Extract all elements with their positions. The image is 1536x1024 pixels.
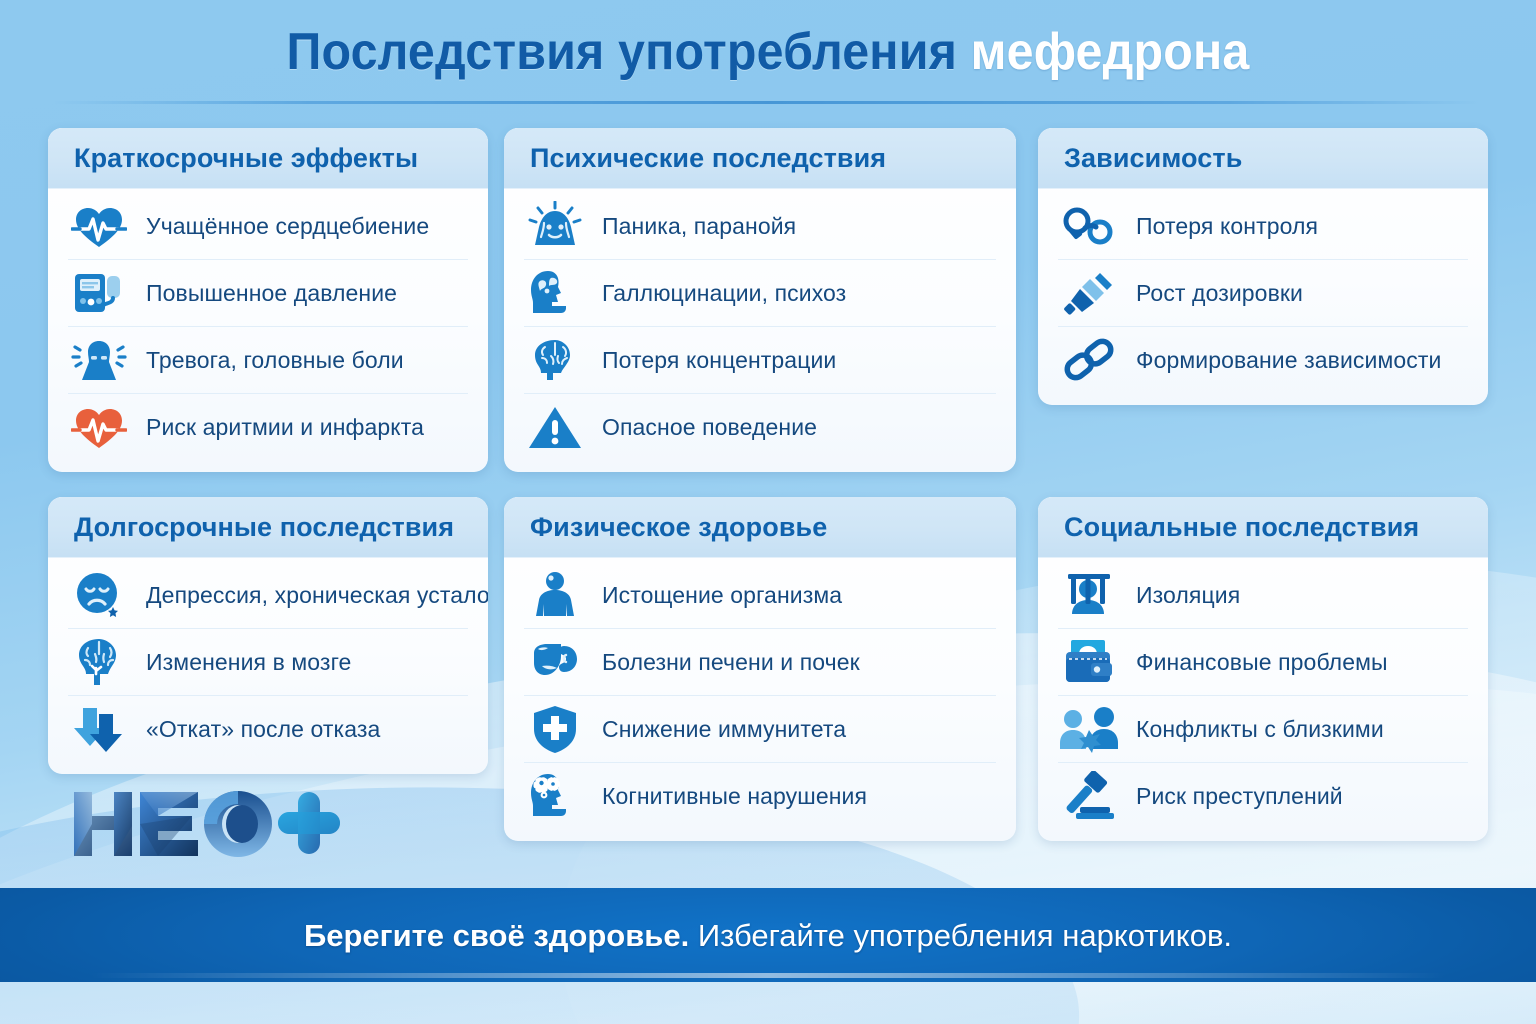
card-body: Изоляция Финансовы <box>1038 558 1488 839</box>
list-item[interactable]: Конфликты с близкими <box>1058 696 1468 763</box>
card-mental-consequences: Психические последствия Паника, паранойя <box>504 128 1016 472</box>
brain-icon <box>524 332 586 388</box>
prison-bars-person-icon <box>1058 567 1120 623</box>
card-heading: Физическое здоровье <box>530 512 827 543</box>
list-item[interactable]: Изменения в мозге <box>68 629 468 696</box>
list-item-label: Финансовые проблемы <box>1136 649 1388 676</box>
list-item[interactable]: Болезни печени и почек <box>524 629 996 696</box>
blood-pressure-monitor-icon <box>68 265 130 321</box>
list-item-label: Риск преступлений <box>1136 783 1343 810</box>
list-item[interactable]: Галлюцинации, психоз <box>524 260 996 327</box>
head-hallucination-icon <box>524 265 586 321</box>
card-dependence: Зависимость Потеря контроля <box>1038 128 1488 405</box>
list-item-label: Опасное поведение <box>602 414 817 441</box>
handcuffs-icon <box>1058 198 1120 254</box>
list-item-label: Паника, паранойя <box>602 213 796 240</box>
list-item[interactable]: Учащённое сердцебиение <box>68 193 468 260</box>
card-heading: Психические последствия <box>530 143 886 174</box>
list-item[interactable]: Финансовые проблемы <box>1058 629 1468 696</box>
head-gears-icon <box>524 768 586 824</box>
list-item[interactable]: Потеря контроля <box>1058 193 1468 260</box>
list-item-label: Повышенное давление <box>146 280 397 307</box>
sad-face-icon <box>68 567 130 623</box>
page-title-primary: Последствия употребления <box>287 23 957 81</box>
list-item-label: «Откат» после отказа <box>146 716 380 743</box>
card-short-term-effects: Краткосрочные эффекты Учащённое сердцеби… <box>48 128 488 472</box>
list-item-label: Тревога, головные боли <box>146 347 404 374</box>
list-item[interactable]: Депрессия, хроническая усталость <box>68 562 468 629</box>
list-item-label: Истощение организма <box>602 582 842 609</box>
list-item-label: Конфликты с близкими <box>1136 716 1384 743</box>
card-physical-health: Физическое здоровье Истощение организма <box>504 497 1016 841</box>
card-heading: Зависимость <box>1064 143 1242 174</box>
footer-message-normal: Избегайте употребления наркотиков. <box>689 918 1232 953</box>
list-item-label: Потеря концентрации <box>602 347 836 374</box>
list-item[interactable]: Формирование зависимости <box>1058 327 1468 393</box>
list-item-label: Рост дозировки <box>1136 280 1303 307</box>
list-item-label: Когнитивные нарушения <box>602 783 867 810</box>
down-arrows-icon <box>68 701 130 757</box>
card-body: Учащённое сердцебиение <box>48 189 488 470</box>
brain-tree-icon <box>68 634 130 690</box>
list-item-label: Снижение иммунитета <box>602 716 846 743</box>
card-heading: Социальные последствия <box>1064 512 1419 543</box>
card-body: Потеря контроля Рост дозировки <box>1038 189 1488 403</box>
infographic-poster: Последствия употребления мефедрона Кратк… <box>0 0 1536 1024</box>
card-header: Психические последствия <box>504 128 1016 189</box>
list-item[interactable]: Рост дозировки <box>1058 260 1468 327</box>
list-item[interactable]: Потеря концентрации <box>524 327 996 394</box>
list-item-label: Риск аритмии и инфаркта <box>146 414 424 441</box>
page-title-highlight: мефедрона <box>971 23 1250 81</box>
panic-face-icon <box>524 198 586 254</box>
chain-link-icon <box>1058 332 1120 388</box>
list-item[interactable]: Риск преступлений <box>1058 763 1468 829</box>
card-body: Паника, паранойя Галлюцинации, психоз <box>504 189 1016 470</box>
syringe-icon <box>1058 265 1120 321</box>
liver-kidney-icon <box>524 634 586 690</box>
footer-message: Берегите своё здоровье. Избегайте употре… <box>0 918 1536 954</box>
list-item[interactable]: Риск аритмии и инфаркта <box>68 394 468 460</box>
card-heading: Долгосрочные последствия <box>74 512 454 543</box>
card-header: Зависимость <box>1038 128 1488 189</box>
card-long-term-consequences: Долгосрочные последствия Депрессия, хрон… <box>48 497 488 774</box>
card-body: Истощение организма Болезни печени и поч… <box>504 558 1016 839</box>
gavel-icon <box>1058 768 1120 824</box>
list-item-label: Учащённое сердцебиение <box>146 213 429 240</box>
card-header: Социальные последствия <box>1038 497 1488 558</box>
card-header: Краткосрочные эффекты <box>48 128 488 189</box>
page-title: Последствия употребления мефедрона <box>54 22 1482 82</box>
card-social-consequences: Социальные последствия <box>1038 497 1488 841</box>
headache-person-icon <box>68 332 130 388</box>
logo-neo-plus <box>66 786 346 860</box>
thin-person-icon <box>524 567 586 623</box>
list-item-label: Потеря контроля <box>1136 213 1318 240</box>
heart-pulse-icon <box>68 198 130 254</box>
list-item-label: Формирование зависимости <box>1136 347 1441 374</box>
list-item[interactable]: Паника, паранойя <box>524 193 996 260</box>
wallet-icon <box>1058 634 1120 690</box>
list-item[interactable]: Истощение организма <box>524 562 996 629</box>
footer-message-bold: Берегите своё здоровье. <box>304 918 689 953</box>
two-people-conflict-icon <box>1058 701 1120 757</box>
list-item-label: Болезни печени и почек <box>602 649 860 676</box>
list-item-label: Депрессия, хроническая усталость <box>146 582 488 609</box>
shield-cross-icon <box>524 701 586 757</box>
list-item[interactable]: «Откат» после отказа <box>68 696 468 762</box>
list-item-label: Изменения в мозге <box>146 649 351 676</box>
list-item[interactable]: Тревога, головные боли <box>68 327 468 394</box>
card-header: Физическое здоровье <box>504 497 1016 558</box>
list-item[interactable]: Опасное поведение <box>524 394 996 460</box>
list-item-label: Изоляция <box>1136 582 1240 609</box>
heart-pulse-red-icon <box>68 399 130 455</box>
list-item[interactable]: Когнитивные нарушения <box>524 763 996 829</box>
title-divider <box>54 101 1482 104</box>
card-heading: Краткосрочные эффекты <box>74 143 418 174</box>
card-body: Депрессия, хроническая усталость Изменен… <box>48 558 488 772</box>
list-item[interactable]: Изоляция <box>1058 562 1468 629</box>
card-header: Долгосрочные последствия <box>48 497 488 558</box>
warning-triangle-icon <box>524 399 586 455</box>
list-item[interactable]: Снижение иммунитета <box>524 696 996 763</box>
list-item-label: Галлюцинации, психоз <box>602 280 846 307</box>
list-item[interactable]: Повышенное давление <box>68 260 468 327</box>
